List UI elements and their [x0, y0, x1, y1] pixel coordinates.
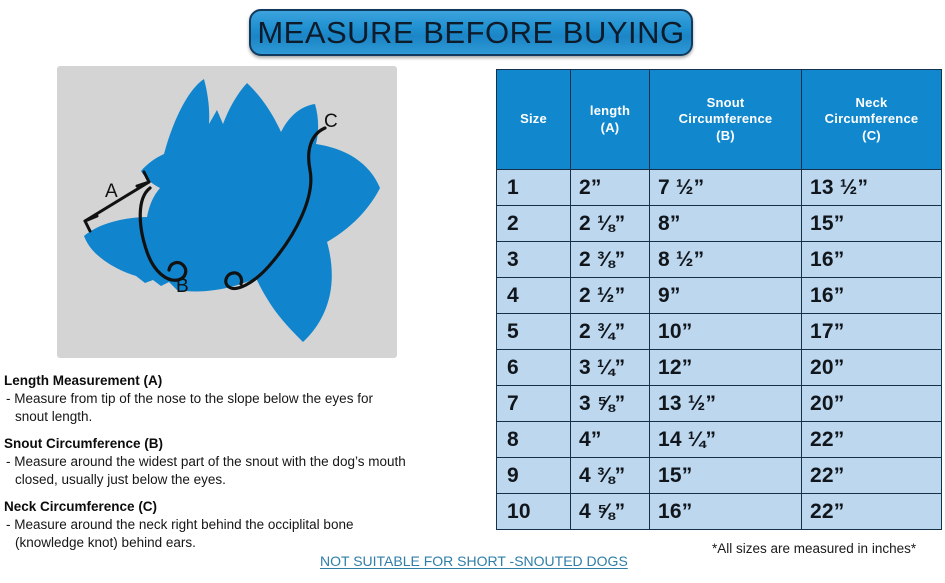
- cell-neck: 20”: [802, 386, 942, 422]
- table-row: 73 ⅝”13 ½”20”: [497, 386, 942, 422]
- instruction-block-length: Length Measurement (A) - Measure from ti…: [4, 372, 486, 426]
- cell-size: 8: [497, 422, 571, 458]
- cell-length: 2”: [571, 170, 650, 206]
- table-row: 42 ½”9”16”: [497, 278, 942, 314]
- table-row: 22 ⅛”8”15”: [497, 206, 942, 242]
- instruction-heading-neck: Neck Circumference (C): [4, 498, 486, 516]
- instruction-body-neck: - Measure around the neck right behind t…: [4, 516, 486, 552]
- cell-neck: 22”: [802, 422, 942, 458]
- instruction-heading-snout: Snout Circumference (B): [4, 435, 486, 453]
- table-row: 84”14 ¼”22”: [497, 422, 942, 458]
- cell-snout: 10”: [650, 314, 802, 350]
- label-b: B: [176, 276, 189, 297]
- cell-neck: 17”: [802, 314, 942, 350]
- page-title: MEASURE BEFORE BUYING: [257, 15, 684, 51]
- inches-footnote: *All sizes are measured in inches*: [712, 541, 916, 556]
- cell-length: 4”: [571, 422, 650, 458]
- title-banner: MEASURE BEFORE BUYING: [249, 9, 693, 56]
- cell-size: 1: [497, 170, 571, 206]
- cell-size: 3: [497, 242, 571, 278]
- dog-head-illustration: A B C: [57, 66, 397, 358]
- cell-neck: 15”: [802, 206, 942, 242]
- cell-snout: 16”: [650, 494, 802, 530]
- instruction-line-2: (knowledge knot) behind ears.: [6, 534, 486, 552]
- size-chart-table: Size length (A) Snout Circumference (B) …: [496, 69, 942, 530]
- cell-snout: 8”: [650, 206, 802, 242]
- cell-neck: 16”: [802, 242, 942, 278]
- table-row: 63 ¼”12”20”: [497, 350, 942, 386]
- header-line: length: [571, 103, 649, 120]
- column-header-snout: Snout Circumference (B): [650, 70, 802, 170]
- table-row: 32 ⅜”8 ½”16”: [497, 242, 942, 278]
- short-snout-warning: NOT SUITABLE FOR SHORT -SNOUTED DOGS: [320, 553, 628, 569]
- header-line: (C): [802, 128, 941, 145]
- instruction-block-neck: Neck Circumference (C) - Measure around …: [4, 498, 486, 552]
- column-header-neck: Neck Circumference (C): [802, 70, 942, 170]
- cell-size: 5: [497, 314, 571, 350]
- cell-snout: 14 ¼”: [650, 422, 802, 458]
- label-c: C: [324, 111, 338, 132]
- dog-head-diagram-panel: A B C: [57, 66, 397, 358]
- instruction-body-length: - Measure from tip of the nose to the sl…: [4, 390, 486, 426]
- cell-snout: 12”: [650, 350, 802, 386]
- label-a: A: [105, 181, 118, 202]
- cell-neck: 16”: [802, 278, 942, 314]
- cell-snout: 9”: [650, 278, 802, 314]
- cell-size: 10: [497, 494, 571, 530]
- measurement-instructions: Length Measurement (A) - Measure from ti…: [4, 372, 486, 561]
- instruction-line-2: closed, usually just below the eyes.: [6, 471, 486, 489]
- header-line: Snout: [650, 95, 801, 112]
- cell-size: 7: [497, 386, 571, 422]
- instruction-heading-length: Length Measurement (A): [4, 372, 486, 390]
- instruction-body-snout: - Measure around the widest part of the …: [4, 453, 486, 489]
- instruction-line-2: snout length.: [6, 408, 486, 426]
- table-row: 94 ⅜”15”22”: [497, 458, 942, 494]
- cell-neck: 22”: [802, 494, 942, 530]
- cell-snout: 13 ½”: [650, 386, 802, 422]
- cell-length: 2 ⅜”: [571, 242, 650, 278]
- cell-length: 2 ⅛”: [571, 206, 650, 242]
- cell-neck: 13 ½”: [802, 170, 942, 206]
- table-header-row: Size length (A) Snout Circumference (B) …: [497, 70, 942, 170]
- cell-length: 3 ¼”: [571, 350, 650, 386]
- table-row: 52 ¾”10”17”: [497, 314, 942, 350]
- header-line: (A): [571, 120, 649, 137]
- cell-snout: 7 ½”: [650, 170, 802, 206]
- table-row: 12”7 ½”13 ½”: [497, 170, 942, 206]
- cell-size: 4: [497, 278, 571, 314]
- cell-snout: 8 ½”: [650, 242, 802, 278]
- cell-length: 3 ⅝”: [571, 386, 650, 422]
- header-line: Size: [497, 111, 570, 128]
- cell-length: 2 ½”: [571, 278, 650, 314]
- cell-size: 9: [497, 458, 571, 494]
- cell-neck: 22”: [802, 458, 942, 494]
- cell-length: 4 ⅝”: [571, 494, 650, 530]
- cell-size: 2: [497, 206, 571, 242]
- instruction-line-1: - Measure from tip of the nose to the sl…: [6, 391, 373, 406]
- cell-size: 6: [497, 350, 571, 386]
- header-line: (B): [650, 128, 801, 145]
- header-line: Circumference: [650, 111, 801, 128]
- instruction-block-snout: Snout Circumference (B) - Measure around…: [4, 435, 486, 489]
- cell-length: 4 ⅜”: [571, 458, 650, 494]
- column-header-size: Size: [497, 70, 571, 170]
- cell-snout: 15”: [650, 458, 802, 494]
- cell-neck: 20”: [802, 350, 942, 386]
- instruction-line-1: - Measure around the widest part of the …: [6, 454, 406, 469]
- column-header-length: length (A): [571, 70, 650, 170]
- header-line: Neck: [802, 95, 941, 112]
- table-row: 104 ⅝”16”22”: [497, 494, 942, 530]
- table-body: 12”7 ½”13 ½”22 ⅛”8”15”32 ⅜”8 ½”16”42 ½”9…: [497, 170, 942, 530]
- instruction-line-1: - Measure around the neck right behind t…: [6, 517, 353, 532]
- cell-length: 2 ¾”: [571, 314, 650, 350]
- header-line: Circumference: [802, 111, 941, 128]
